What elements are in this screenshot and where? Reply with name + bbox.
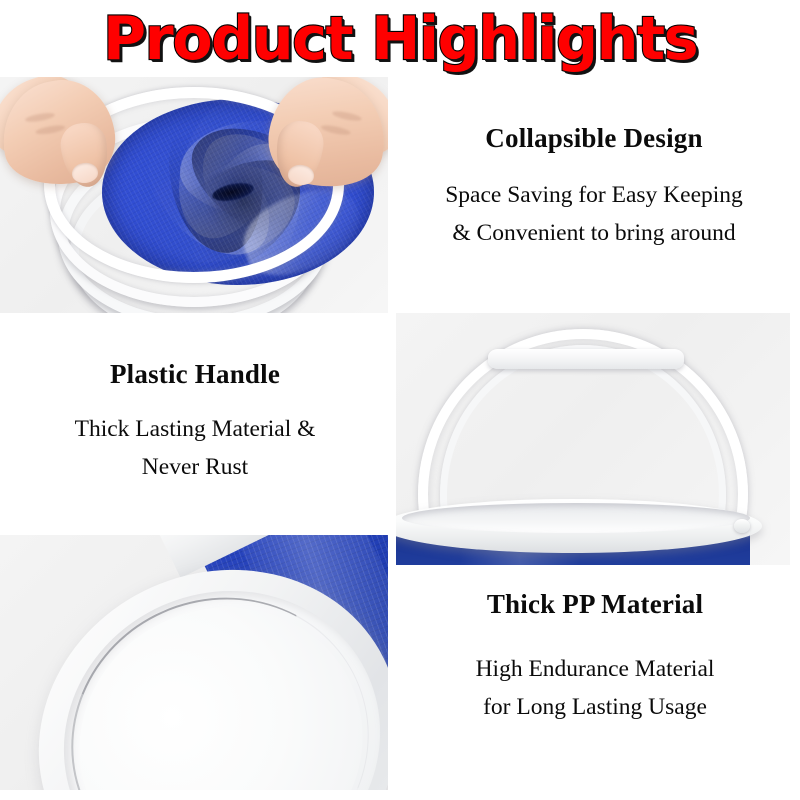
feature-line2-handle: Never Rust: [2, 448, 388, 486]
plastic-handle-arch: [418, 329, 748, 507]
knuckle-crease: [332, 110, 363, 123]
knuckle-crease: [320, 124, 351, 137]
knuckle-crease: [35, 124, 66, 136]
handle-grip: [488, 349, 684, 369]
page-title-banner: Product Highlights: [0, 2, 800, 76]
rim-closeup-scene: [0, 535, 388, 790]
feature-line2-collapsible: & Convenient to bring around: [392, 214, 796, 252]
photo-plastic-handle: [396, 313, 790, 565]
feature-line1-handle: Thick Lasting Material &: [2, 410, 388, 448]
feature-text-handle: Plastic Handle Thick Lasting Material & …: [2, 358, 388, 486]
product-highlights-page: Product Highlights: [0, 0, 800, 800]
page-title: Product Highlights: [103, 8, 697, 70]
feature-text-collapsible: Collapsible Design Space Saving for Easy…: [392, 122, 796, 252]
feature-heading-handle: Plastic Handle: [2, 358, 388, 390]
feature-heading-collapsible: Collapsible Design: [392, 122, 796, 154]
feature-line1-material: High Endurance Material: [394, 650, 796, 688]
bucket-rim-inner: [402, 503, 750, 533]
photo-thick-pp-material: [0, 535, 388, 790]
handle-pivot-knob: [734, 519, 750, 533]
feature-line1-collapsible: Space Saving for Easy Keeping: [392, 176, 796, 214]
feature-line2-material: for Long Lasting Usage: [394, 688, 796, 726]
photo-collapsible-design: [0, 77, 388, 313]
feature-text-material: Thick PP Material High Endurance Materia…: [394, 588, 796, 726]
feature-heading-material: Thick PP Material: [394, 588, 796, 620]
knuckle-crease: [25, 111, 56, 123]
